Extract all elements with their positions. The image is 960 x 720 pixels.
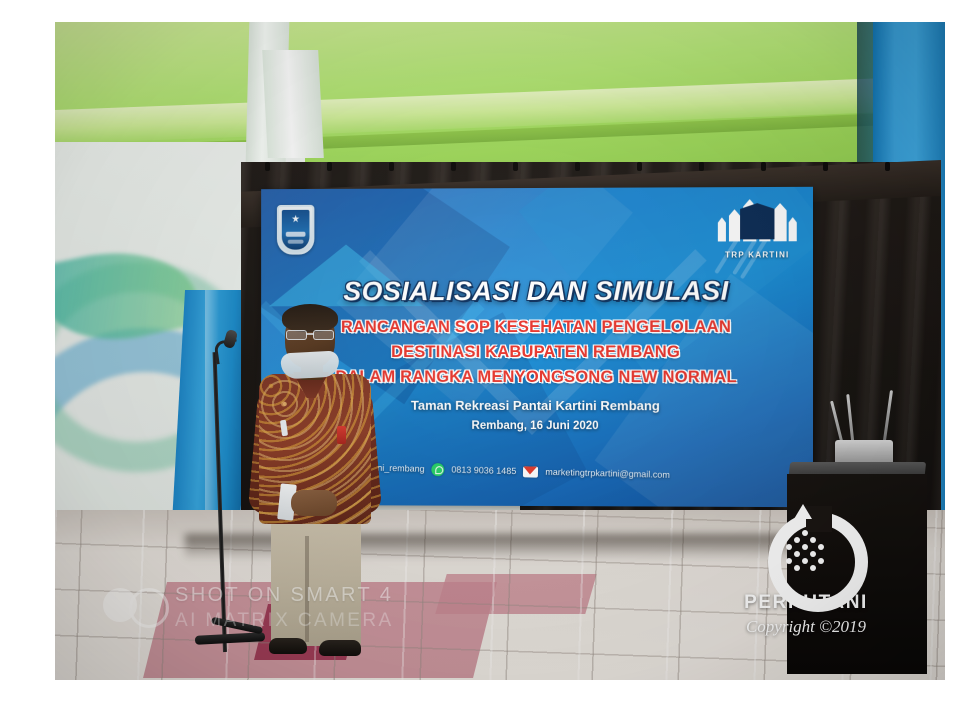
perhutani-watermark: PERHUTANI Copyright ©2019 [711, 506, 901, 652]
camera-watermark-line-1: SHOT ON SMART 4 [175, 584, 393, 607]
speaker-hair [282, 304, 338, 332]
crest-band [288, 240, 304, 244]
perhutani-circular-arrow-icon [764, 506, 848, 588]
eyeglasses-icon [286, 330, 334, 338]
crest-inner [282, 210, 310, 250]
trp-kartini-label: TRP KARTINI [716, 250, 799, 259]
kabupaten-rembang-crest-icon [277, 205, 314, 255]
screenshot-root: TRP KARTINI SOSIALISASI DAN SIMULASI RAN… [0, 0, 960, 720]
crest-band [286, 232, 306, 237]
white-column-capital [262, 50, 324, 158]
photograph: TRP KARTINI SOSIALISASI DAN SIMULASI RAN… [55, 22, 945, 680]
whatsapp-icon [431, 463, 444, 476]
perhutani-arrow-head [794, 504, 812, 519]
banner-title: SOSIALISASI DAN SIMULASI [261, 275, 813, 307]
trp-kartini-logo-icon: TRP KARTINI [716, 197, 799, 258]
curtain-hooks [255, 162, 935, 176]
camera-lens-ring-icon [129, 588, 169, 628]
speaker-hands [291, 490, 337, 516]
email-address: marketingtrpkartini@gmail.com [545, 467, 670, 480]
camera-watermark: SHOT ON SMART 4 AI MATRIX CAMERA [103, 580, 423, 650]
crest-star-icon [292, 215, 300, 223]
speaker-lanyard-badge [337, 426, 346, 444]
copyright-text: Copyright ©2019 [711, 617, 901, 637]
perhutani-dot-cluster [786, 530, 826, 570]
camera-watermark-line-2: AI MATRIX CAMERA [175, 610, 394, 632]
face-mask-icon [280, 351, 339, 380]
trp-gate-center [740, 203, 774, 239]
email-icon [523, 466, 538, 477]
whatsapp-number: 0813 9036 1485 [451, 465, 516, 477]
